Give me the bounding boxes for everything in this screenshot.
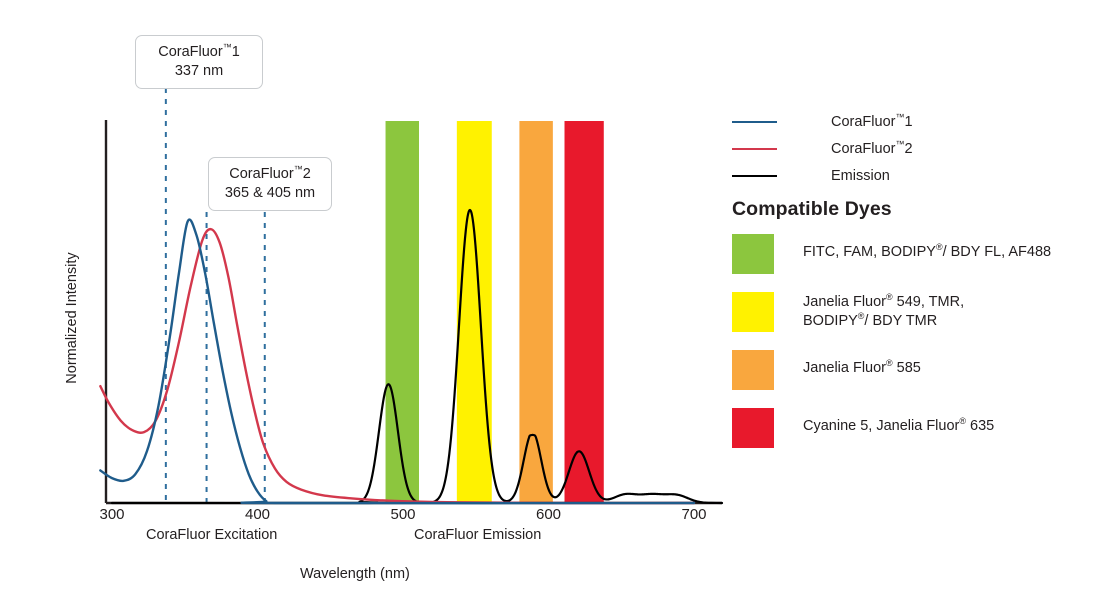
dye-row-2: Janelia Fluor® 549, TMR,BODIPY®/ BDY TMR [730,292,1102,332]
dye-label-text: Janelia Fluor [803,360,886,376]
plot-area: CoraFluor™1 337 nm CoraFluor™2 365 & 405… [0,0,730,612]
legend-line-swatch [732,121,777,123]
dye-label: Janelia Fluor® 585 [803,350,921,378]
annotation-corafluor1-line1: CoraFluor™1 [148,43,250,62]
annotation-corafluor2-line2: 365 & 405 nm [221,184,319,203]
dye-label-line: BODIPY®/ BDY TMR [803,312,964,331]
compatible-dyes-title: Compatible Dyes [732,198,892,221]
excitation-marker-lines [166,88,265,503]
annotation-corafluor2-name: CoraFluor [229,166,293,182]
spectra-figure: CoraFluor™1 337 nm CoraFluor™2 365 & 405… [0,0,1110,612]
dye-label-text: Cyanine 5, Janelia Fluor [803,418,959,434]
dye-label-line: Janelia Fluor® 585 [803,359,921,378]
emission-band-3 [519,121,552,503]
excitation-region-label: CoraFluor Excitation [146,527,277,543]
emission-band-4 [565,121,604,503]
dye-label-tail: / BDY TMR [864,313,937,329]
legend-label-text: CoraFluor [831,141,895,157]
annotation-corafluor1: CoraFluor™1 337 nm [135,35,263,89]
x-tick-400: 400 [228,506,288,523]
x-tick-700: 700 [664,506,724,523]
annotation-corafluor2-line1: CoraFluor™2 [221,165,319,184]
annotation-corafluor2-index: 2 [303,166,311,182]
dye-label-line: Cyanine 5, Janelia Fluor® 635 [803,417,994,436]
dye-label-tail: 585 [893,360,921,376]
legend-label: Emission [831,168,890,184]
x-axis-title: Wavelength (nm) [300,566,410,582]
registered-icon: ® [959,416,966,426]
series-legend: CoraFluor™1CoraFluor™2Emission [730,108,1070,189]
side-panel: CoraFluor™1CoraFluor™2Emission Compatibl… [730,0,1110,612]
emission-band-2 [457,121,492,503]
legend-label-index: 2 [904,141,912,157]
dye-color-swatch [732,350,774,390]
dye-label: FITC, FAM, BODIPY®/ BDY FL, AF488 [803,234,1051,262]
dye-row-1: FITC, FAM, BODIPY®/ BDY FL, AF488 [730,234,1102,274]
x-tick-500: 500 [373,506,433,523]
trademark-icon: ™ [223,42,232,52]
dye-color-swatch [732,234,774,274]
dye-label-tail: 549, TMR, [893,294,964,310]
dye-label-tail: / BDY FL, AF488 [943,244,1052,260]
dye-label: Cyanine 5, Janelia Fluor® 635 [803,408,994,436]
dye-label-text: BODIPY [803,313,858,329]
dye-label: Janelia Fluor® 549, TMR,BODIPY®/ BDY TMR [803,292,964,331]
dye-label-text: FITC, FAM, BODIPY [803,244,936,260]
legend-label-index: 1 [904,114,912,130]
legend-label-text: CoraFluor [831,114,895,130]
annotation-corafluor2: CoraFluor™2 365 & 405 nm [208,157,332,211]
legend-line-swatch [732,175,777,177]
compatible-dyes-list: FITC, FAM, BODIPY®/ BDY FL, AF488Janelia… [730,234,1102,466]
y-axis-title: Normalized Intensity [64,233,80,403]
dye-label-line: Janelia Fluor® 549, TMR, [803,293,964,312]
x-tick-300: 300 [82,506,142,523]
trademark-icon: ™ [294,164,303,174]
registered-icon: ® [886,358,893,368]
dye-label-tail: 635 [966,418,994,434]
dye-label-line: FITC, FAM, BODIPY®/ BDY FL, AF488 [803,243,1051,262]
emission-bands-group [386,121,604,503]
annotation-corafluor1-index: 1 [232,44,240,60]
registered-icon: ® [886,292,893,302]
annotation-corafluor1-name: CoraFluor [158,44,222,60]
x-tick-600: 600 [519,506,579,523]
legend-label: CoraFluor™1 [831,114,913,130]
dye-color-swatch [732,408,774,448]
emission-region-label: CoraFluor Emission [414,527,541,543]
registered-icon: ® [936,242,943,252]
legend-label: CoraFluor™2 [831,141,913,157]
emission-band-1 [386,121,419,503]
dye-label-text: Janelia Fluor [803,294,886,310]
legend-row-3: Emission [730,162,1070,189]
legend-line-swatch [732,148,777,150]
legend-row-2: CoraFluor™2 [730,135,1070,162]
legend-row-1: CoraFluor™1 [730,108,1070,135]
legend-label-text: Emission [831,168,890,184]
annotation-corafluor1-line2: 337 nm [148,62,250,81]
dye-row-4: Cyanine 5, Janelia Fluor® 635 [730,408,1102,448]
dye-row-3: Janelia Fluor® 585 [730,350,1102,390]
dye-color-swatch [732,292,774,332]
